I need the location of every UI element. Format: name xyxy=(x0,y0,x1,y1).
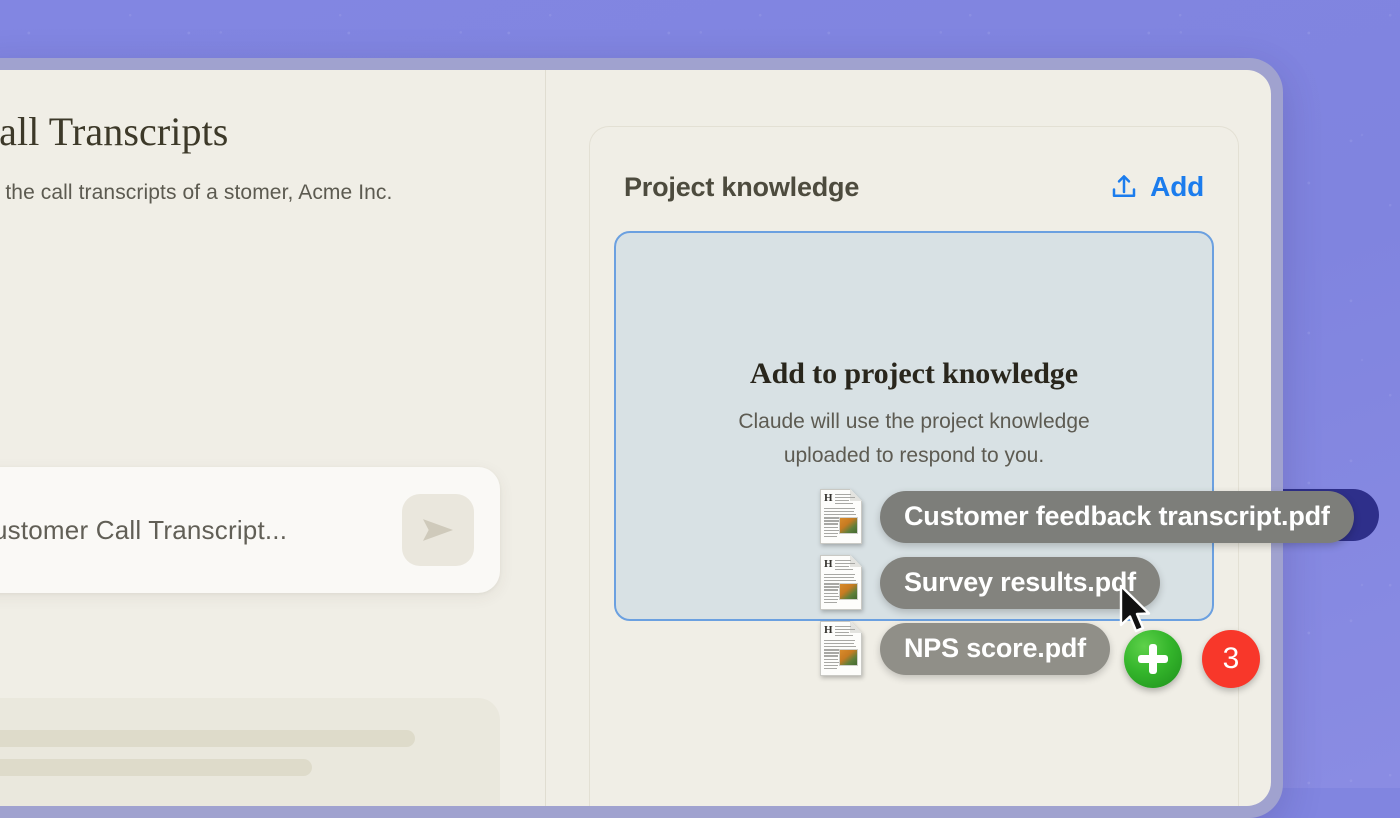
project-knowledge-title: Project knowledge xyxy=(624,172,859,203)
assistant-reply-card: Ahsam xyxy=(0,698,500,806)
project-detail-pane: er Call Transcripts ontains the call tra… xyxy=(0,70,545,806)
add-knowledge-button[interactable]: Add xyxy=(1109,171,1204,203)
knowledge-dropzone[interactable]: Add to project knowledge Claude will use… xyxy=(614,231,1214,621)
add-knowledge-label: Add xyxy=(1150,171,1204,203)
page-title: er Call Transcripts xyxy=(0,108,501,155)
app-surface: er Call Transcripts ontains the call tra… xyxy=(0,70,1271,806)
project-knowledge-pane: Project knowledge Add Add to project kno… xyxy=(546,70,1271,806)
send-icon xyxy=(418,510,458,550)
reply-author: Ahsam xyxy=(0,804,500,806)
message-composer[interactable]: Customer Call Transcript... xyxy=(0,467,500,593)
composer-input[interactable]: Customer Call Transcript... xyxy=(0,515,402,546)
dropzone-title: Add to project knowledge xyxy=(750,357,1078,391)
send-button[interactable] xyxy=(402,494,474,566)
project-description: ontains the call transcripts of a stomer… xyxy=(0,175,431,211)
upload-icon xyxy=(1109,172,1139,202)
app-window: er Call Transcripts ontains the call tra… xyxy=(0,58,1283,818)
skeleton-line xyxy=(0,730,415,747)
project-knowledge-header: Project knowledge Add xyxy=(614,127,1214,203)
skeleton-line xyxy=(0,759,312,776)
dropzone-subtitle: Claude will use the project knowledge up… xyxy=(699,405,1129,472)
avatar-row xyxy=(0,235,501,281)
project-knowledge-card: Project knowledge Add Add to project kno… xyxy=(589,126,1239,806)
